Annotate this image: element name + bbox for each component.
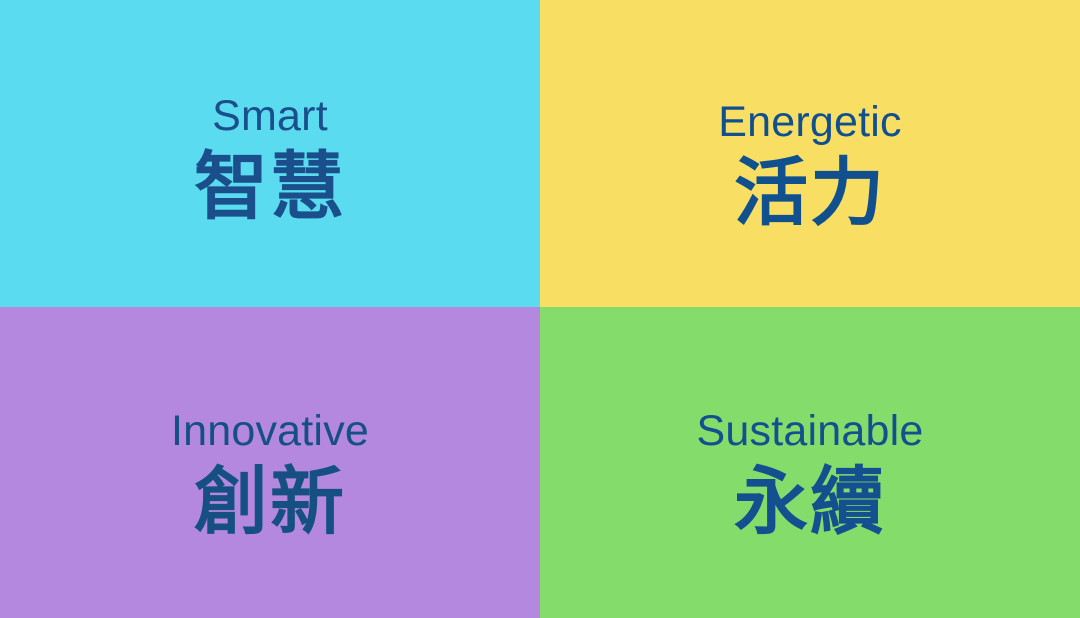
panel-energetic: Energetic 活力 <box>540 0 1080 307</box>
panel-innovative-chinese-label: 創新 <box>194 465 346 539</box>
panel-innovative-english-label: Innovative <box>171 410 369 453</box>
panel-smart-english-label: Smart <box>212 95 328 138</box>
panel-energetic-content: Energetic 活力 <box>540 0 1080 230</box>
panel-sustainable-content: Sustainable 永續 <box>540 307 1080 539</box>
panel-sustainable: Sustainable 永續 <box>540 307 1080 618</box>
panel-sustainable-chinese-label: 永續 <box>734 465 886 539</box>
panel-innovative-content: Innovative 創新 <box>0 307 540 539</box>
panel-innovative: Innovative 創新 <box>0 307 540 618</box>
panel-smart: Smart 智慧 <box>0 0 540 307</box>
panel-smart-content: Smart 智慧 <box>0 0 540 224</box>
panel-sustainable-english-label: Sustainable <box>697 410 924 453</box>
panel-smart-chinese-label: 智慧 <box>194 150 346 224</box>
brand-values-grid: Smart 智慧 Energetic 活力 Innovative 創新 Sust… <box>0 0 1080 618</box>
panel-energetic-english-label: Energetic <box>718 101 901 144</box>
panel-energetic-chinese-label: 活力 <box>734 156 886 230</box>
